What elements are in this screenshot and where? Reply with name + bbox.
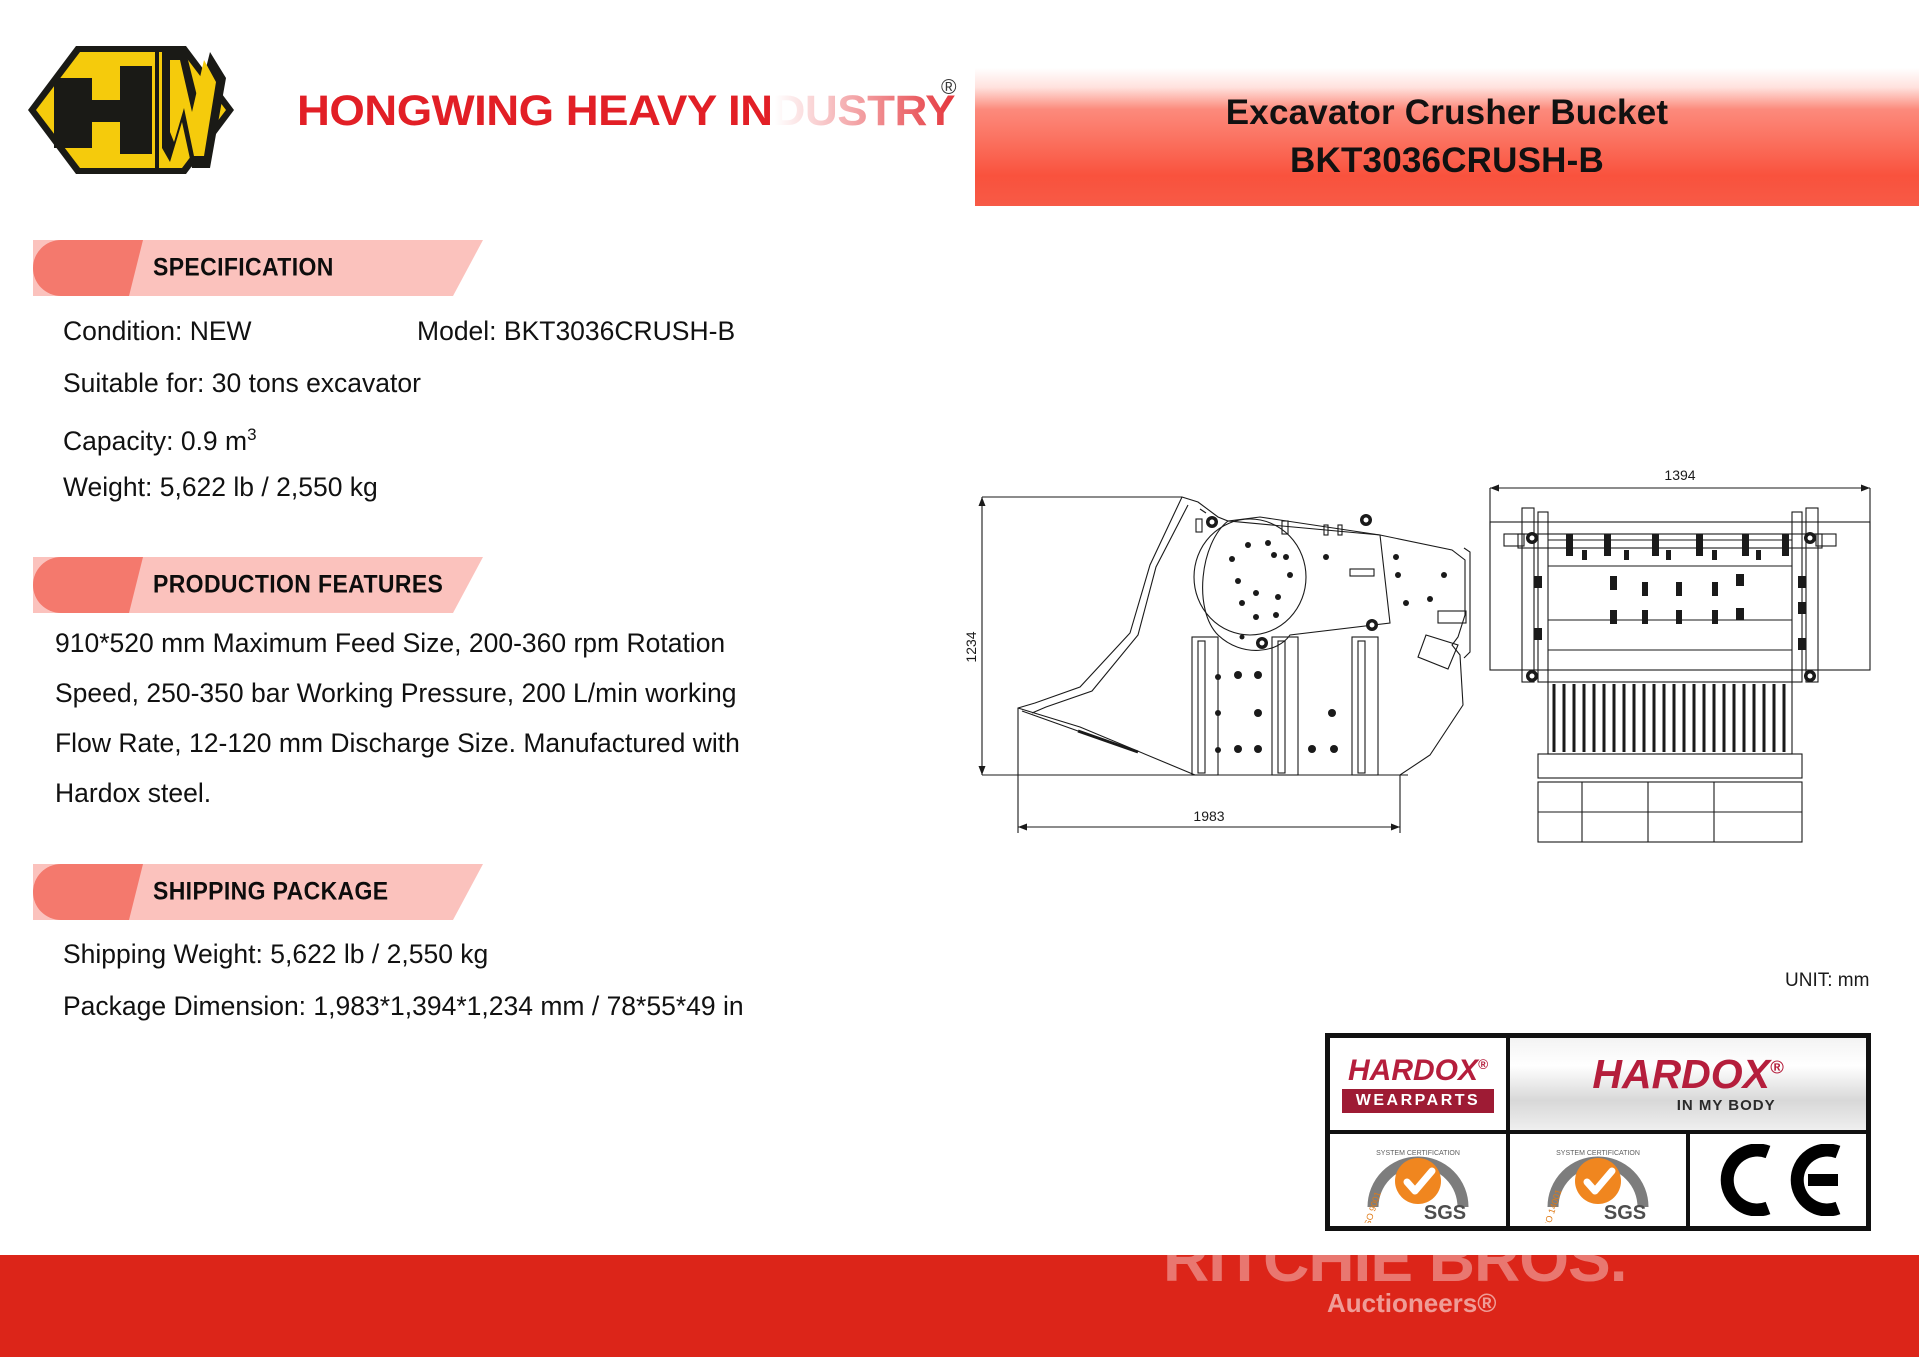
ce-mark-badge [1688,1132,1868,1228]
certification-badge-grid: HARDOX® WEARPARTS HARDOX® IN MY BODY SYS… [1325,1033,1871,1231]
shipping-weight: Shipping Weight: 5,622 lb / 2,550 kg [63,928,488,980]
spec-capacity-text: Capacity: 0.9 m [63,426,247,456]
sgs-iso-9001-label: ISO 9001 [1362,1190,1383,1223]
banner-deep-shape [33,557,143,613]
footer-bar [0,1255,1919,1357]
sgs-iso-14001-badge: SYSTEM CERTIFICATION ISO 14001 SGS [1508,1132,1688,1228]
sgs-iso-9001-badge: SYSTEM CERTIFICATION ISO 9001 SGS [1328,1132,1508,1228]
ritchie-bros-watermark-sub: Auctioneers® [1327,1288,1496,1319]
banner-deep-shape [33,864,143,920]
spec-capacity-exponent: 3 [247,425,256,444]
section-title-specification: SPECIFICATION [153,254,334,283]
spec-capacity: Capacity: 0.9 m3 [63,409,257,467]
banner-deep-shape [33,240,143,296]
section-title-shipping-package: SHIPPING PACKAGE [153,878,389,907]
hardox-wearparts-badge: HARDOX® WEARPARTS [1328,1036,1508,1132]
production-features-body: 910*520 mm Maximum Feed Size, 200-360 rp… [55,618,785,818]
product-title: Excavator Crusher Bucket [1226,92,1669,134]
spec-suitable-for: Suitable for: 30 tons excavator [63,357,421,409]
front-view-width-dim: 1394 [1664,467,1695,483]
drawing-unit-note: UNIT: mm [1785,970,1869,992]
product-model-code: BKT3036CRUSH-B [1290,140,1604,182]
sgs-arc-text-9001: SYSTEM CERTIFICATION [1376,1150,1460,1157]
spec-sheet-page: HONGWING HEAVY INDUSTRY ® Excavator Crus… [0,0,1919,1357]
hardox-wearparts-wordmark: HARDOX® [1348,1056,1488,1086]
technical-drawing-front-view: 1394 [1460,452,1880,847]
sgs-wordmark-9001: SGS [1424,1202,1466,1223]
side-view-width-dim: 1983 [1193,808,1224,824]
product-title-banner: Excavator Crusher Bucket BKT3036CRUSH-B [975,68,1919,206]
side-view-height-dim: 1234 [963,631,979,662]
technical-drawing-side-view: 1234 1983 [960,455,1480,845]
hardox-in-my-body-wordmark: HARDOX® [1592,1054,1783,1095]
spec-condition: Condition: NEW [63,305,252,357]
hw-hexagon-logo-icon [24,38,238,182]
section-title-production-features: PRODUCTION FEATURES [153,571,443,600]
hardox-wearparts-subtitle: WEARPARTS [1342,1089,1494,1113]
package-dimension: Package Dimension: 1,983*1,394*1,234 mm … [63,980,744,1032]
sgs-iso-14001-label: ISO 14001 [1541,1188,1564,1223]
sgs-wordmark-14001: SGS [1604,1202,1646,1223]
hardox-in-my-body-subtitle: IN MY BODY [1677,1097,1776,1114]
spec-weight: Weight: 5,622 lb / 2,550 kg [63,461,378,513]
sgs-arc-text-14001: SYSTEM CERTIFICATION [1556,1150,1640,1157]
spec-model: Model: BKT3036CRUSH-B [417,305,735,357]
hardox-in-my-body-badge: HARDOX® IN MY BODY [1508,1036,1868,1132]
